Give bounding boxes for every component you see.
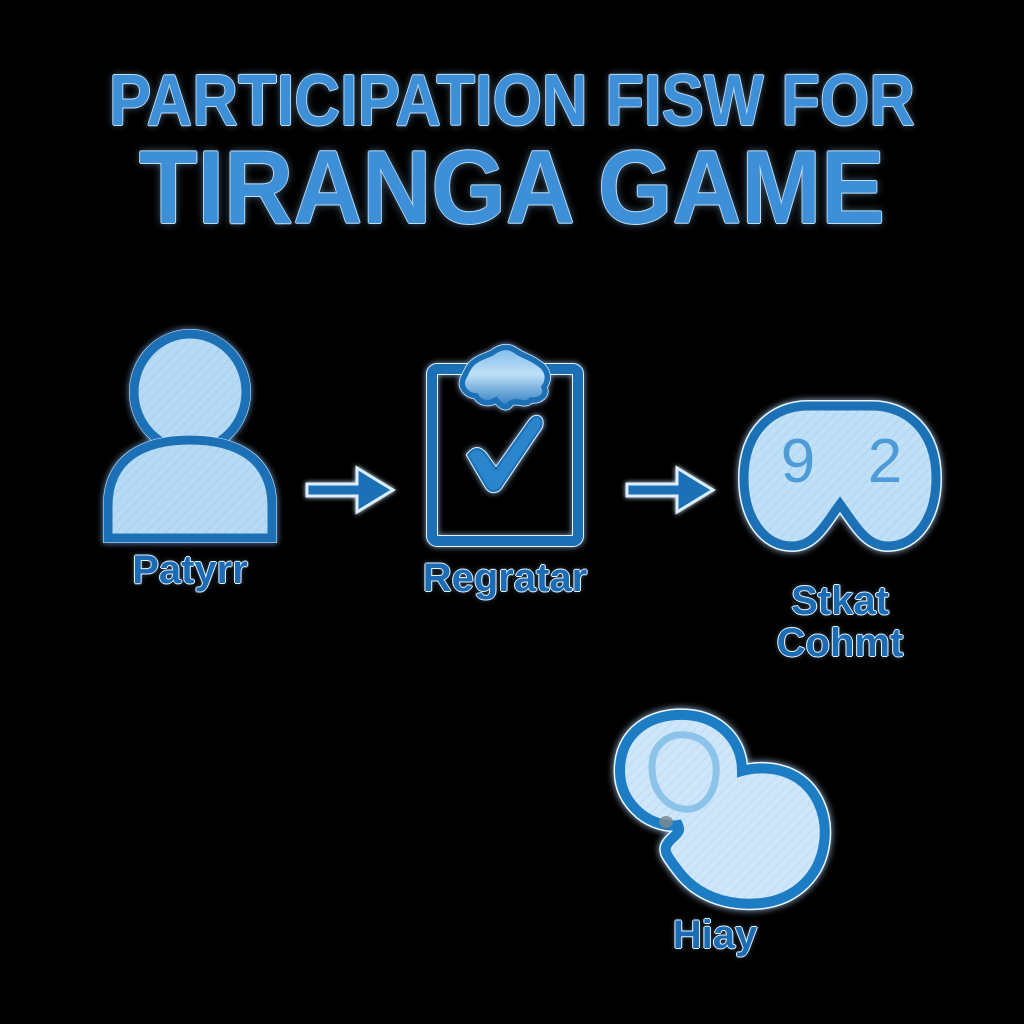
flow-step-play-label: Stkat Cohmt (700, 580, 980, 665)
flow-step-register[interactable]: Regratar (380, 338, 630, 598)
trophy-blob-icon-wrap (565, 700, 865, 915)
clipboard-check-icon (410, 343, 600, 558)
gamepad-mark-left: 9 (781, 427, 815, 496)
title-line-2: TIRANGA GAME (41, 140, 983, 238)
gamepad-icon: 9 2 (730, 390, 950, 580)
gamepad-icon-wrap: 9 2 (700, 360, 980, 580)
flow-step-play-label-line1: Stkat (700, 580, 980, 622)
flow-step-participant[interactable]: Patyrr (60, 330, 320, 590)
reward-label: Hiay (565, 915, 865, 955)
flow-row: Patyrr (0, 330, 1024, 660)
title-line-1: PARTICIPATION FISW FOR (61, 68, 962, 136)
poster-title: PARTICIPATION FISW FOR TIRANGA GAME (0, 68, 1024, 237)
flow-step-register-label: Regratar (380, 558, 630, 598)
user-icon (90, 330, 290, 550)
flow-step-play[interactable]: 9 2 Stkat Cohmt (700, 360, 980, 665)
gamepad-mark-right: 2 (868, 427, 902, 496)
reward-step[interactable]: Hiay (565, 700, 865, 955)
flow-step-play-label-line2: Cohmt (700, 622, 980, 664)
user-icon-wrap (60, 330, 320, 550)
clipboard-check-icon-wrap (380, 338, 630, 558)
infographic-poster: PARTICIPATION FISW FOR TIRANGA GAME (0, 0, 1024, 1024)
trophy-blob-icon (590, 705, 840, 915)
flow-step-participant-label: Patyrr (60, 550, 320, 590)
